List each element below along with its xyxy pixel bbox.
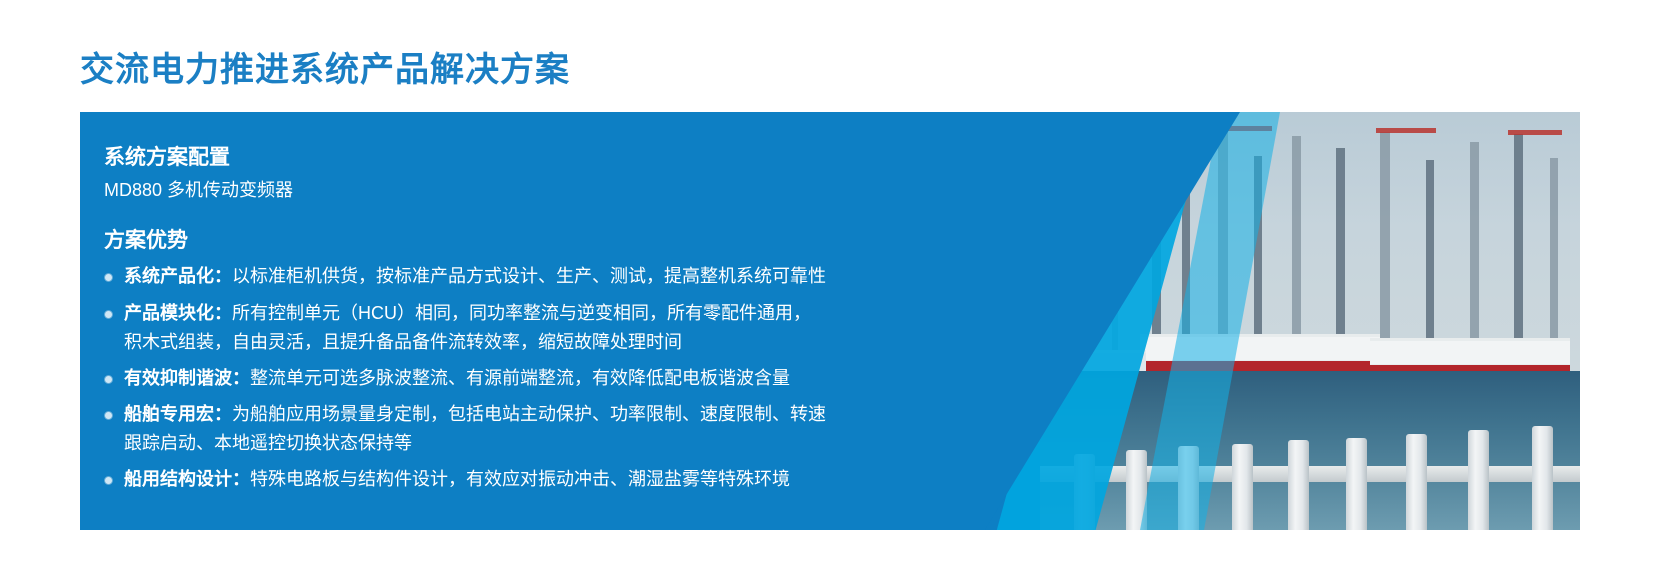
advantages-heading: 方案优势 xyxy=(104,227,1000,255)
advantage-term: 系统产品化： xyxy=(124,266,232,286)
config-subtitle: MD880 多机传动变频器 xyxy=(104,176,1000,205)
page-root: 交流电力推进系统产品解决方案 xyxy=(0,0,1660,570)
advantage-text: 以标准柜机供货，按标准产品方式设计、生产、测试，提高整机系统可靠性 xyxy=(232,266,826,286)
advantage-text-continued: 积木式组装，自由灵活，且提升备品备件流转效率，缩短故障处理时间 xyxy=(124,328,1000,357)
config-heading: 系统方案配置 xyxy=(104,144,1000,172)
list-item: 系统产品化：以标准柜机供货，按标准产品方式设计、生产、测试，提高整机系统可靠性 xyxy=(100,262,1000,291)
list-item: 船用结构设计：特殊电路板与结构件设计，有效应对振动冲击、潮湿盐雾等特殊环境 xyxy=(100,465,1000,494)
solution-banner: 系统方案配置 MD880 多机传动变频器 方案优势 系统产品化：以标准柜机供货，… xyxy=(80,112,1580,530)
list-item: 有效抑制谐波：整流单元可选多脉波整流、有源前端整流，有效降低配电板谐波含量 xyxy=(100,364,1000,393)
advantage-term: 产品模块化： xyxy=(124,303,232,323)
advantages-list: 系统产品化：以标准柜机供货，按标准产品方式设计、生产、测试，提高整机系统可靠性 … xyxy=(100,262,1000,494)
advantage-term: 船舶专用宏： xyxy=(124,404,232,424)
advantage-text-continued: 跟踪启动、本地遥控切换状态保持等 xyxy=(124,429,1000,458)
advantage-text: 特殊电路板与结构件设计，有效应对振动冲击、潮湿盐雾等特殊环境 xyxy=(250,469,790,489)
advantage-text: 整流单元可选多脉波整流、有源前端整流，有效降低配电板谐波含量 xyxy=(250,368,790,388)
photo-dock xyxy=(1040,466,1580,482)
bullet-dot-icon xyxy=(105,477,112,484)
advantage-term: 有效抑制谐波： xyxy=(124,368,250,388)
bullet-dot-icon xyxy=(105,311,112,318)
bullet-dot-icon xyxy=(105,376,112,383)
list-item: 船舶专用宏：为船舶应用场景量身定制，包括电站主动保护、功率限制、速度限制、转速 … xyxy=(100,400,1000,458)
advantage-term: 船用结构设计： xyxy=(124,469,250,489)
page-title: 交流电力推进系统产品解决方案 xyxy=(80,50,570,91)
advantage-text: 所有控制单元（HCU）相同，同功率整流与逆变相同，所有零配件通用， xyxy=(232,303,811,323)
panel-content: 系统方案配置 MD880 多机传动变频器 方案优势 系统产品化：以标准柜机供货，… xyxy=(100,112,1000,530)
list-item: 产品模块化：所有控制单元（HCU）相同，同功率整流与逆变相同，所有零配件通用， … xyxy=(100,299,1000,357)
advantage-text: 为船舶应用场景量身定制，包括电站主动保护、功率限制、速度限制、转速 xyxy=(232,404,826,424)
bullet-dot-icon xyxy=(105,274,112,281)
bullet-dot-icon xyxy=(105,412,112,419)
